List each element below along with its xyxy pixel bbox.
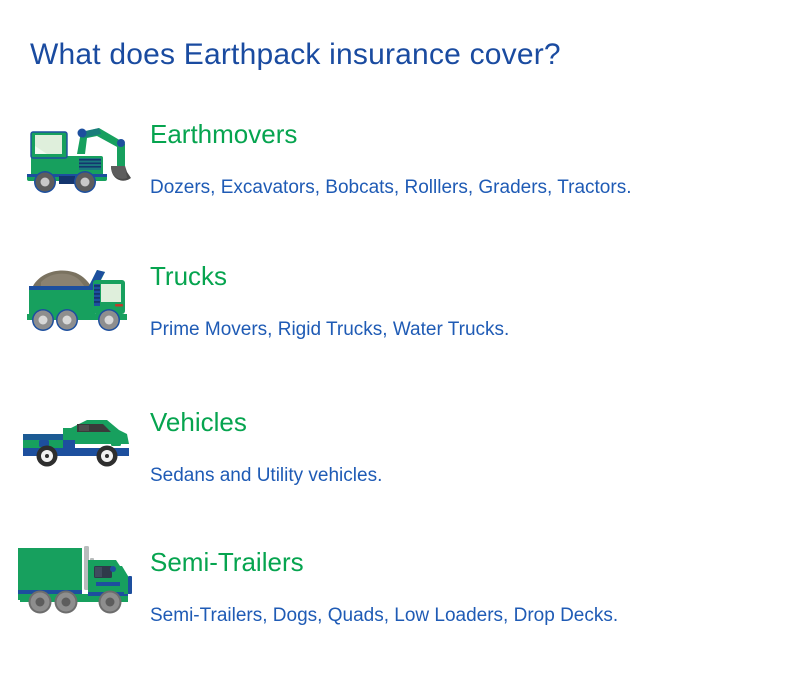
coverage-item-text: Semi-Trailers Semi-Trailers, Dogs, Quads… bbox=[150, 530, 618, 627]
coverage-list: Earthmovers Dozers, Excavators, Bobcats,… bbox=[0, 104, 807, 672]
pickup-truck-icon bbox=[0, 388, 150, 474]
dump-truck-icon bbox=[0, 246, 150, 336]
semi-trailer-icon bbox=[0, 530, 150, 622]
excavator-icon bbox=[0, 104, 150, 194]
coverage-item-semi-trailers: Semi-Trailers Semi-Trailers, Dogs, Quads… bbox=[0, 530, 807, 672]
coverage-page: What does Earthpack insurance cover? bbox=[0, 0, 807, 692]
coverage-item-earthmovers: Earthmovers Dozers, Excavators, Bobcats,… bbox=[0, 104, 807, 246]
coverage-heading: Earthmovers bbox=[150, 120, 632, 149]
coverage-item-text: Earthmovers Dozers, Excavators, Bobcats,… bbox=[150, 104, 632, 199]
coverage-heading: Vehicles bbox=[150, 408, 382, 437]
page-title: What does Earthpack insurance cover? bbox=[30, 38, 561, 72]
coverage-item-text: Vehicles Sedans and Utility vehicles. bbox=[150, 388, 382, 487]
coverage-item-trucks: Trucks Prime Movers, Rigid Trucks, Water… bbox=[0, 246, 807, 388]
coverage-description: Dozers, Excavators, Bobcats, Rolllers, G… bbox=[150, 149, 632, 199]
coverage-heading: Semi-Trailers bbox=[150, 548, 618, 577]
coverage-description: Prime Movers, Rigid Trucks, Water Trucks… bbox=[150, 291, 509, 341]
coverage-description: Semi-Trailers, Dogs, Quads, Low Loaders,… bbox=[150, 577, 618, 627]
coverage-item-vehicles: Vehicles Sedans and Utility vehicles. bbox=[0, 388, 807, 530]
coverage-item-text: Trucks Prime Movers, Rigid Trucks, Water… bbox=[150, 246, 509, 341]
coverage-description: Sedans and Utility vehicles. bbox=[150, 437, 382, 487]
coverage-heading: Trucks bbox=[150, 262, 509, 291]
